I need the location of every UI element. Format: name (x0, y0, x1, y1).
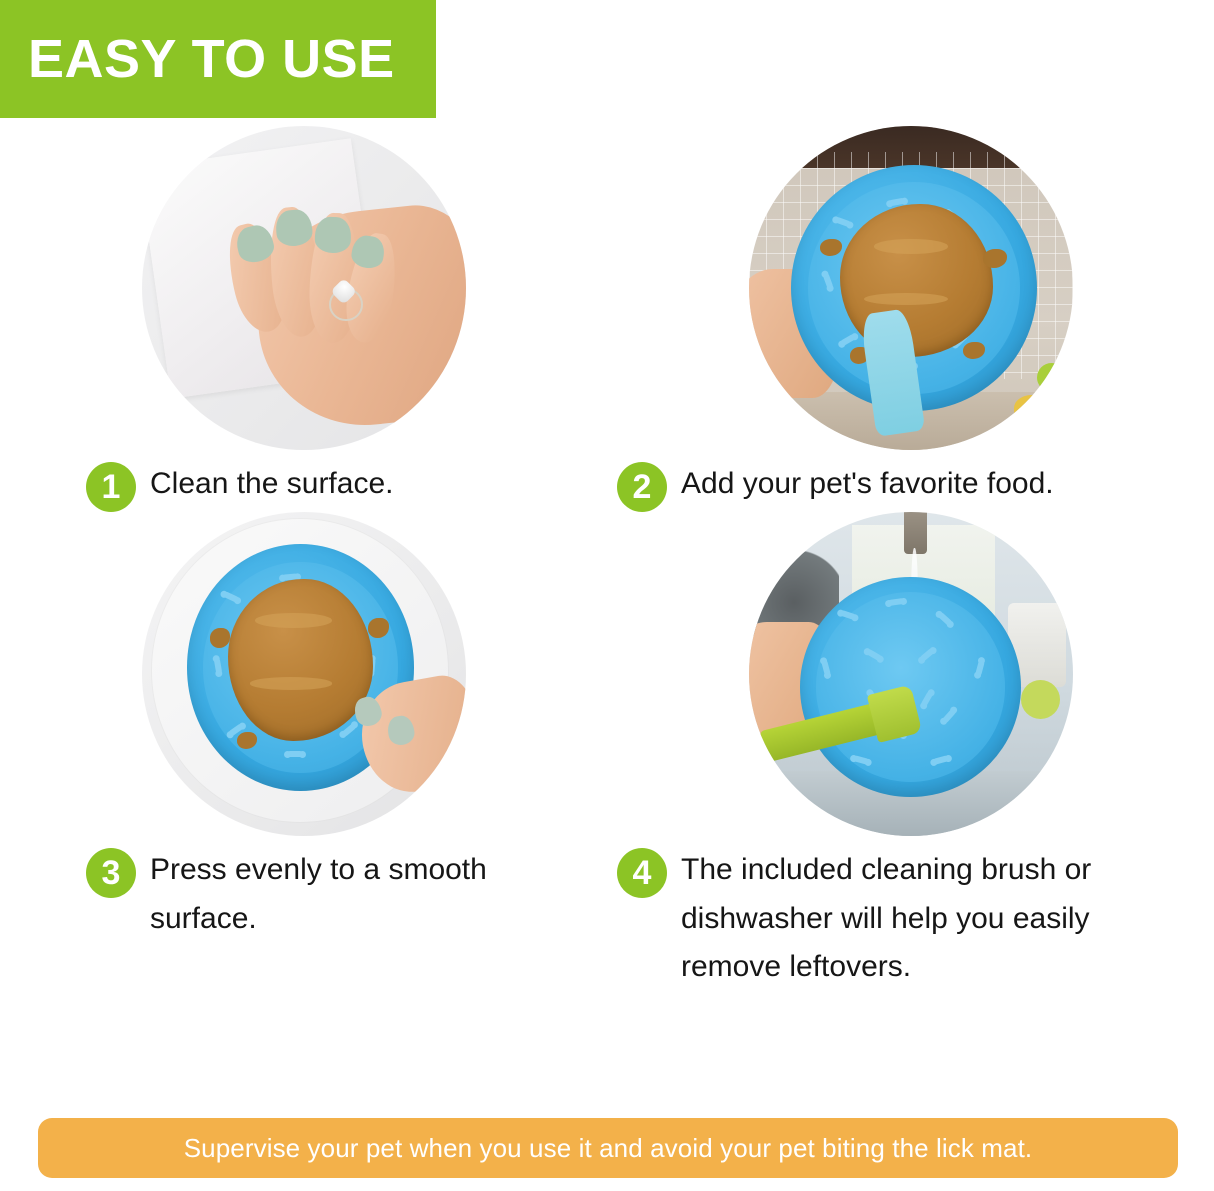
pressing-mat-photo (142, 512, 466, 836)
step-3-caption: 3 Press evenly to a smooth surface. (0, 836, 607, 943)
peanut-butter-blob (228, 579, 373, 742)
step-4-caption: 4 The included cleaning brush or dishwas… (607, 836, 1214, 992)
step-card-4: 4 The included cleaning brush or dishwas… (607, 512, 1214, 992)
bone-nub (287, 751, 303, 757)
fingernail (314, 216, 351, 253)
warning-text: Supervise your pet when you use it and a… (184, 1133, 1033, 1164)
lick-mat (800, 577, 1020, 797)
step-1-caption-text: Clean the surface. (150, 460, 393, 509)
rinsing-mat-photo (749, 512, 1073, 836)
corn-food (1014, 395, 1053, 424)
step-3-caption-text: Press evenly to a smooth surface. (150, 846, 570, 943)
steps-row-bottom: 3 Press evenly to a smooth surface. (0, 512, 1214, 992)
step-card-1: 1 Clean the surface. (0, 126, 607, 512)
steps-row-top: 1 Clean the surface. (0, 126, 1214, 512)
photo-3-scene (142, 512, 466, 836)
peanut-butter-streak (255, 613, 332, 628)
step-3-photo-wrap (0, 512, 607, 836)
spreading-peanut-butter-photo (749, 126, 1073, 450)
lime-fruit (1037, 363, 1066, 392)
step-1-photo-wrap (0, 126, 607, 450)
step-card-2: 2 Add your pet's favorite food. (607, 126, 1214, 512)
step-4-photo-wrap (607, 512, 1214, 836)
page-title: EASY TO USE (28, 32, 395, 86)
fruit (1021, 680, 1060, 719)
lick-mat-inner (816, 592, 1005, 781)
hand-wiping-cloth-photo (142, 126, 466, 450)
step-2-caption: 2 Add your pet's favorite food. (607, 450, 1214, 512)
step-number-badge-2: 2 (617, 462, 667, 512)
step-4-caption-text: The included cleaning brush or dishwashe… (681, 846, 1111, 992)
photo-2-scene (749, 126, 1073, 450)
step-number-badge-3: 3 (86, 848, 136, 898)
photo-1-scene (142, 126, 466, 450)
header-banner: EASY TO USE (0, 0, 436, 118)
step-2-caption-text: Add your pet's favorite food. (681, 460, 1054, 509)
step-number-badge-1: 1 (86, 462, 136, 512)
step-number-badge-4: 4 (617, 848, 667, 898)
photo-4-scene (749, 512, 1073, 836)
peanut-butter-streak (250, 677, 332, 689)
step-card-3: 3 Press evenly to a smooth surface. (0, 512, 607, 992)
peanut-butter-streak (874, 239, 948, 254)
step-2-photo-wrap (607, 126, 1214, 450)
warning-banner: Supervise your pet when you use it and a… (38, 1118, 1178, 1178)
step-1-caption: 1 Clean the surface. (0, 450, 607, 512)
steps-grid: 1 Clean the surface. (0, 126, 1214, 992)
